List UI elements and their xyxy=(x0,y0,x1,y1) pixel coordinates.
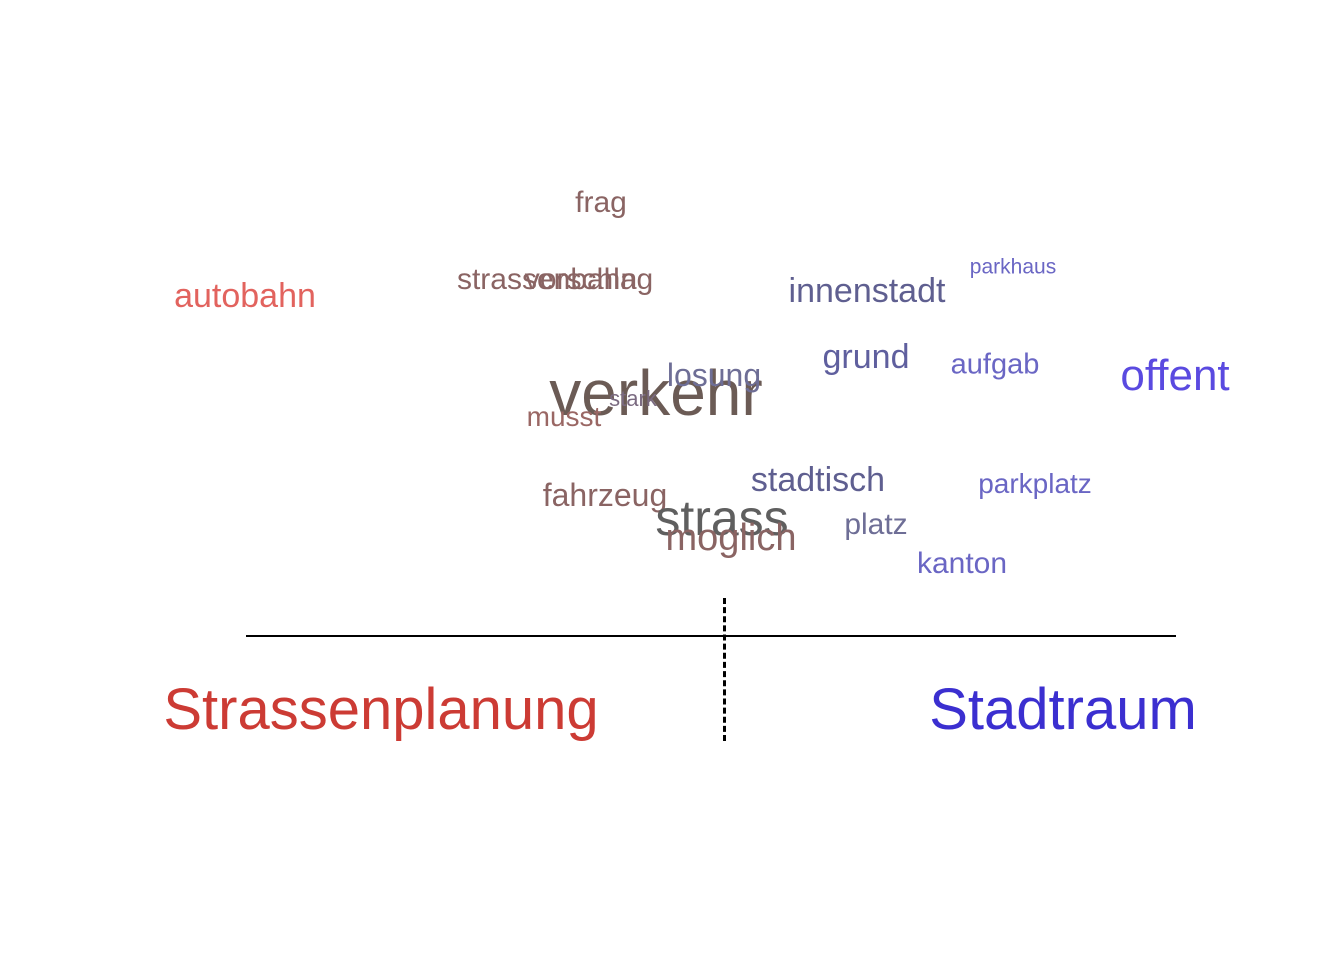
word-cloud-term: offent xyxy=(1120,354,1229,398)
word-cloud-term: vorschlag xyxy=(525,265,653,295)
word-cloud-term: platz xyxy=(844,510,907,540)
word-cloud-term: parkplatz xyxy=(978,470,1092,498)
word-cloud-term: innenstadt xyxy=(789,274,946,308)
word-cloud-term: aufgab xyxy=(951,351,1040,380)
word-cloud-term: frag xyxy=(575,188,627,218)
word-cloud-term: moglich xyxy=(666,519,797,557)
vertical-divider-line xyxy=(723,598,726,741)
word-cloud-term: parkhaus xyxy=(970,257,1056,278)
pole-label-right: Stadtraum xyxy=(929,681,1197,739)
word-cloud-term: losung xyxy=(667,359,761,391)
word-cloud-figure: autobahnfragstrassenbahnvorschlaginnenst… xyxy=(0,0,1344,960)
word-cloud-term: stark xyxy=(609,388,657,410)
word-cloud-term: kanton xyxy=(917,549,1007,579)
word-cloud-term: musst xyxy=(527,403,602,431)
word-cloud-term: autobahn xyxy=(174,279,316,313)
word-cloud-term: grund xyxy=(823,340,910,374)
word-cloud-term: fahrzeug xyxy=(543,479,668,511)
pole-label-left: Strassenplanung xyxy=(163,681,598,739)
horizontal-axis-line xyxy=(246,635,1176,637)
